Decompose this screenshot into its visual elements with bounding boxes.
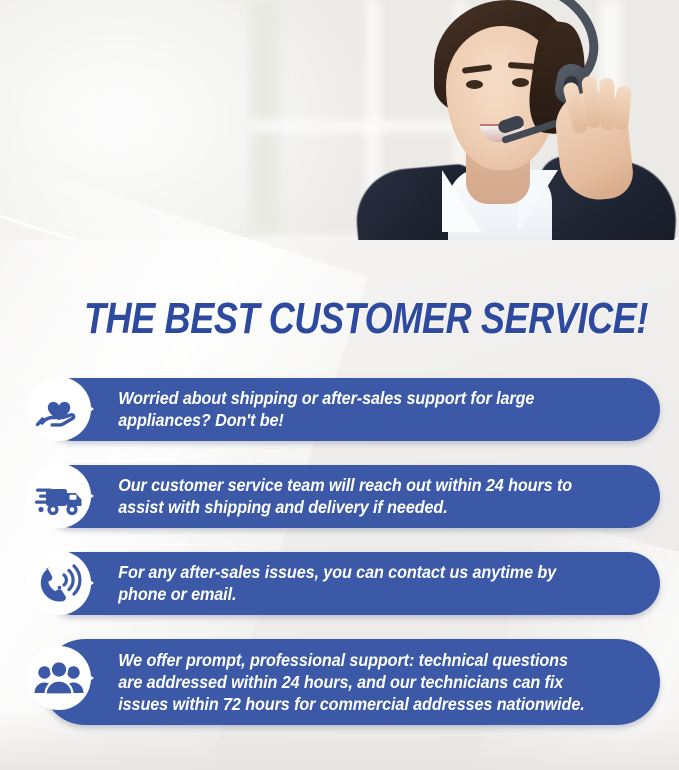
delivery-truck-icon: [22, 459, 96, 533]
benefit-pill[interactable]: We offer prompt, professional support: t…: [42, 639, 660, 725]
benefit-row: We offer prompt, professional support: t…: [0, 633, 679, 741]
benefit-pill[interactable]: Our customer service team will reach out…: [42, 465, 660, 528]
benefit-text: Worried about shipping or after-sales su…: [42, 378, 617, 441]
group-of-people-icon: [22, 641, 96, 715]
benefit-list: Worried about shipping or after-sales su…: [0, 372, 679, 741]
benefit-row: Our customer service team will reach out…: [0, 459, 679, 546]
content-area: THE BEST CUSTOMER SERVICE! Worried about…: [0, 240, 679, 770]
benefit-text: We offer prompt, professional support: t…: [42, 640, 617, 725]
phone-call-icon: [22, 546, 96, 620]
heart-in-hand-icon: [22, 372, 96, 446]
benefit-pill[interactable]: Worried about shipping or after-sales su…: [42, 378, 660, 441]
benefit-row: Worried about shipping or after-sales su…: [0, 372, 679, 459]
finger: [613, 85, 632, 130]
benefit-text: Our customer service team will reach out…: [42, 465, 617, 528]
customer-service-infographic: THE BEST CUSTOMER SERVICE! Worried about…: [0, 0, 679, 770]
eye-left: [466, 80, 483, 89]
benefit-pill[interactable]: For any after-sales issues, you can cont…: [42, 552, 660, 615]
benefit-row: For any after-sales issues, you can cont…: [0, 546, 679, 633]
page-title: THE BEST CUSTOMER SERVICE!: [84, 297, 648, 341]
benefit-text: For any after-sales issues, you can cont…: [42, 552, 617, 615]
